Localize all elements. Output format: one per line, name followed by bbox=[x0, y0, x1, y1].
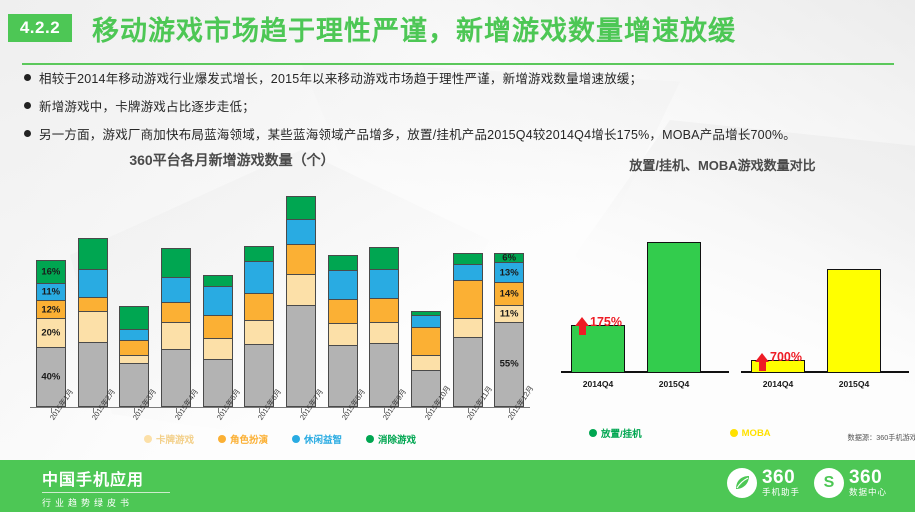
bar-value-label: 11% bbox=[37, 287, 65, 298]
bar-stack bbox=[161, 248, 191, 407]
bar-segment bbox=[286, 274, 316, 304]
logo-text-small: 数据中心 bbox=[849, 487, 887, 498]
bar bbox=[827, 269, 881, 373]
bar-value-label: 16% bbox=[37, 266, 65, 277]
chart-legend-left: 卡牌游戏角色扮演休闲益智消除游戏 bbox=[30, 432, 530, 446]
growth-indicator: 700% bbox=[755, 350, 802, 364]
legend-color-swatch bbox=[144, 435, 152, 443]
bar-segment bbox=[78, 269, 108, 297]
bar-segment bbox=[78, 311, 108, 341]
chart-plot-area-left: 16%11%12%20%40%6%13%14%11%55% bbox=[30, 182, 530, 407]
bar-value-label: 55% bbox=[495, 359, 523, 370]
growth-indicator: 175% bbox=[575, 315, 622, 329]
chart-title-left: 360平台各月新增游戏数量（个） bbox=[12, 150, 452, 170]
page-title: 移动游戏市场趋于理性严谨，新增游戏数量增速放缓 bbox=[92, 9, 736, 48]
bar-segment bbox=[203, 286, 233, 315]
bullet-list: 相较于2014年移动游戏行业爆发式增长，2015年以来移动游戏市场趋于理性严谨，… bbox=[22, 70, 902, 154]
footer-brand-divider bbox=[42, 492, 170, 493]
legend-item: 消除游戏 bbox=[366, 432, 416, 446]
bar-segment bbox=[328, 270, 358, 299]
bar-value-label: 20% bbox=[37, 328, 65, 339]
bar-stack bbox=[328, 255, 358, 407]
header-divider bbox=[22, 63, 894, 65]
bar-segment bbox=[119, 355, 149, 363]
bar-segment bbox=[328, 255, 358, 270]
bar-segment bbox=[161, 277, 191, 303]
x-axis-label: 2015Q4 bbox=[647, 379, 701, 389]
list-item: 相较于2014年移动游戏行业爆发式增长，2015年以来移动游戏市场趋于理性严谨，… bbox=[22, 70, 902, 88]
arrow-up-icon bbox=[755, 353, 769, 362]
legend-item: 休闲益智 bbox=[292, 432, 342, 446]
chart-monthly-new-games: 360平台各月新增游戏数量（个） 16%11%12%20%40%6%13%14%… bbox=[12, 150, 542, 450]
bar-stack: 16%11%12%20%40% bbox=[36, 260, 66, 407]
bar-value-label: 11% bbox=[495, 308, 523, 319]
x-axis-label: 2014Q4 bbox=[571, 379, 625, 389]
bar-value-label: 13% bbox=[495, 267, 523, 278]
legend-label: 消除游戏 bbox=[378, 432, 416, 446]
bar bbox=[647, 242, 701, 373]
bar-segment bbox=[161, 322, 191, 349]
chart-plot-area-right: 2014Q4175%2015Q42014Q4700%2015Q4 bbox=[553, 186, 903, 401]
x-axis-label: 2014Q4 bbox=[751, 379, 805, 389]
x-axis-label: 2015Q4 bbox=[827, 379, 881, 389]
bar-segment bbox=[203, 315, 233, 339]
legend-color-swatch bbox=[366, 435, 374, 443]
bar-stack bbox=[78, 238, 108, 407]
bullet-text: 相较于2014年移动游戏行业爆发式增长，2015年以来移动游戏市场趋于理性严谨，… bbox=[39, 72, 642, 86]
slide-header: 4.2.2 移动游戏市场趋于理性严谨，新增游戏数量增速放缓 bbox=[0, 0, 915, 58]
bar-segment bbox=[78, 297, 108, 312]
bullet-text: 新增游戏中，卡牌游戏占比逐步走低； bbox=[39, 100, 255, 114]
arrow-up-icon bbox=[575, 317, 589, 326]
bar-segment: 6% bbox=[494, 253, 524, 262]
bar-stack bbox=[286, 196, 316, 408]
bar-segment bbox=[369, 322, 399, 343]
bar-stack bbox=[453, 253, 483, 407]
legend-color-swatch bbox=[730, 429, 738, 437]
slide-root: 4.2.2 移动游戏市场趋于理性严谨，新增游戏数量增速放缓 相较于2014年移动… bbox=[0, 0, 915, 512]
bar-segment bbox=[369, 269, 399, 298]
bar-segment bbox=[411, 355, 441, 370]
bar-segment bbox=[328, 299, 358, 323]
footer-brand-line1: 中国手机应用 bbox=[42, 466, 170, 490]
bar-segment bbox=[161, 302, 191, 321]
bar-segment: 20% bbox=[36, 318, 66, 347]
logo-text-big: 360 bbox=[849, 468, 887, 487]
slide-footer: 中国手机应用 行业趋势绿皮书 360 手机助手 S 360 数据中心 bbox=[0, 460, 915, 512]
legend-label: 休闲益智 bbox=[304, 432, 342, 446]
bar-value-label: 40% bbox=[37, 372, 65, 383]
bar-segment bbox=[369, 247, 399, 268]
bar-segment bbox=[328, 323, 358, 346]
bullet-dot-icon bbox=[24, 102, 31, 109]
bar-segment bbox=[453, 264, 483, 280]
leaf-icon bbox=[727, 468, 757, 498]
bar-segment bbox=[119, 329, 149, 339]
bar-segment bbox=[411, 315, 441, 327]
bullet-text: 另一方面，游戏厂商加快布局蓝海领域，某些蓝海领域产品增多，放置/挂机产品2015… bbox=[39, 128, 796, 142]
source-note: 数据源：360手机游戏 bbox=[848, 433, 915, 443]
bar-value-label: 12% bbox=[37, 304, 65, 315]
legend-color-swatch bbox=[218, 435, 226, 443]
bar-segment bbox=[244, 261, 274, 294]
bar-segment bbox=[453, 280, 483, 318]
logo-360-mobile-assistant: 360 手机助手 bbox=[727, 468, 800, 498]
bar-segment bbox=[78, 238, 108, 268]
bar-segment bbox=[203, 338, 233, 358]
bar-segment bbox=[203, 275, 233, 285]
legend-item: 角色扮演 bbox=[218, 432, 268, 446]
legend-color-swatch bbox=[292, 435, 300, 443]
logo-text-small: 手机助手 bbox=[762, 487, 800, 498]
footer-logos: 360 手机助手 S 360 数据中心 bbox=[727, 468, 887, 498]
chart-idle-moba-compare: 放置/挂机、MOBA游戏数量对比 2014Q4175%2015Q42014Q47… bbox=[545, 150, 915, 450]
list-item: 新增游戏中，卡牌游戏占比逐步走低； bbox=[22, 98, 902, 116]
bar-segment bbox=[411, 327, 441, 355]
legend-item: MOBA bbox=[730, 426, 771, 440]
s-badge-icon: S bbox=[814, 468, 844, 498]
legend-label: 卡牌游戏 bbox=[156, 432, 194, 446]
bar-segment bbox=[244, 293, 274, 320]
chart-title-right: 放置/挂机、MOBA游戏数量对比 bbox=[545, 155, 900, 174]
bar-segment bbox=[369, 298, 399, 322]
bar-segment: 13% bbox=[494, 262, 524, 282]
bar-stack bbox=[244, 246, 274, 407]
logo-text-big: 360 bbox=[762, 468, 800, 487]
bar-segment bbox=[286, 305, 316, 407]
bullet-dot-icon bbox=[24, 130, 31, 137]
legend-label: 角色扮演 bbox=[230, 432, 268, 446]
bar-segment bbox=[119, 306, 149, 330]
logo-360-data-center: S 360 数据中心 bbox=[814, 468, 887, 498]
bar-segment bbox=[286, 244, 316, 274]
footer-brand-line2: 行业趋势绿皮书 bbox=[42, 496, 170, 509]
growth-label: 175% bbox=[590, 315, 622, 329]
bar-segment bbox=[453, 318, 483, 337]
growth-label: 700% bbox=[770, 350, 802, 364]
bar-stack bbox=[203, 275, 233, 407]
bar-value-label: 14% bbox=[495, 288, 523, 299]
bar-segment bbox=[286, 219, 316, 244]
bar-segment: 11% bbox=[494, 305, 524, 322]
footer-brand: 中国手机应用 行业趋势绿皮书 bbox=[42, 466, 170, 509]
bar-segment bbox=[286, 196, 316, 220]
list-item: 另一方面，游戏厂商加快布局蓝海领域，某些蓝海领域产品增多，放置/挂机产品2015… bbox=[22, 126, 902, 144]
bar-segment: 11% bbox=[36, 283, 66, 300]
legend-item: 放置/挂机 bbox=[589, 426, 642, 440]
bar-segment bbox=[244, 246, 274, 261]
bar-segment bbox=[161, 248, 191, 276]
legend-item: 卡牌游戏 bbox=[144, 432, 194, 446]
bar-stack: 6%13%14%11%55% bbox=[494, 253, 524, 407]
bar-segment bbox=[453, 253, 483, 264]
legend-label: MOBA bbox=[742, 428, 771, 439]
legend-color-swatch bbox=[589, 429, 597, 437]
bar-segment bbox=[244, 320, 274, 344]
bar-segment: 14% bbox=[494, 282, 524, 305]
bar-segment: 12% bbox=[36, 300, 66, 318]
legend-label: 放置/挂机 bbox=[601, 426, 642, 440]
section-number-badge: 4.2.2 bbox=[8, 14, 72, 42]
bullet-dot-icon bbox=[24, 74, 31, 81]
bar-stack bbox=[369, 247, 399, 407]
bar-segment: 16% bbox=[36, 260, 66, 284]
bar-segment bbox=[119, 340, 149, 356]
